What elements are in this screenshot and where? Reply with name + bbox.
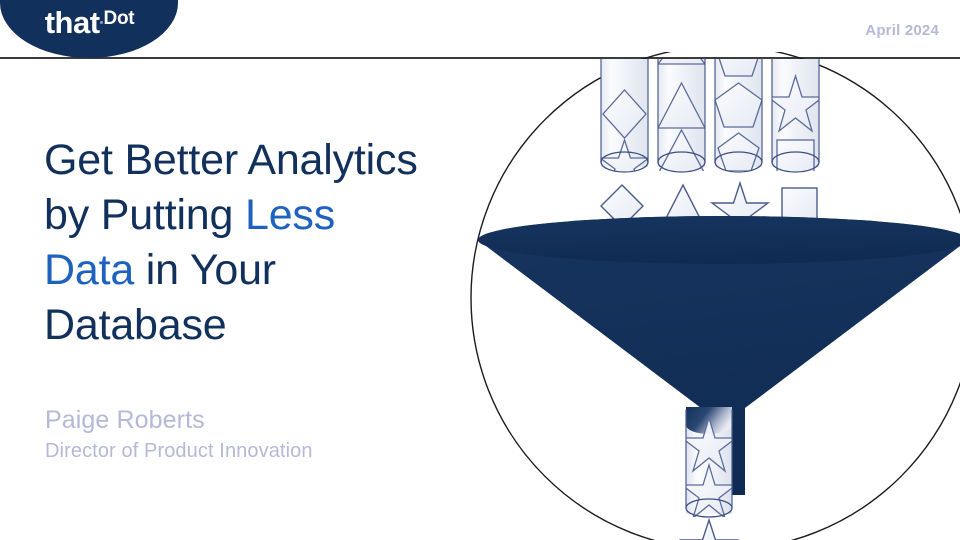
thatdot-logo[interactable]: thatDot — [0, 0, 178, 58]
presenter-role: Director of Product Innovation — [45, 440, 313, 463]
logo-word-that: that — [45, 5, 100, 40]
presenter-name: Paige Roberts — [45, 406, 205, 435]
title-accent-data: Data — [44, 246, 134, 294]
input-tube-3 — [715, 52, 762, 172]
pentagon-icon — [717, 52, 760, 76]
input-tube-1 — [600, 59, 649, 187]
output-tube — [682, 407, 736, 518]
title-line-1: Get Better Analytics — [44, 136, 418, 184]
star-icon — [681, 520, 737, 540]
title-accent-less: Less — [245, 191, 335, 239]
page-title: Get Better Analytics by Putting Less Dat… — [44, 133, 474, 353]
logo-word-dot: Dot — [104, 8, 135, 29]
input-tube-4 — [768, 59, 823, 177]
title-line-4: Database — [44, 301, 226, 349]
logo-wordmark: thatDot — [0, 7, 178, 38]
input-tube-2 — [658, 52, 705, 174]
triangle-icon — [658, 52, 705, 64]
slide-root: thatDot April 2024 Get Better Analytics … — [0, 0, 960, 540]
logo-dot-icon — [100, 21, 103, 24]
data-funnel-diagram — [455, 52, 960, 540]
title-line-2-plain: by Putting — [44, 191, 245, 239]
output-shapes — [681, 520, 737, 540]
title-line-3-plain: in Your — [134, 246, 276, 294]
slide-date: April 2024 — [865, 22, 939, 39]
